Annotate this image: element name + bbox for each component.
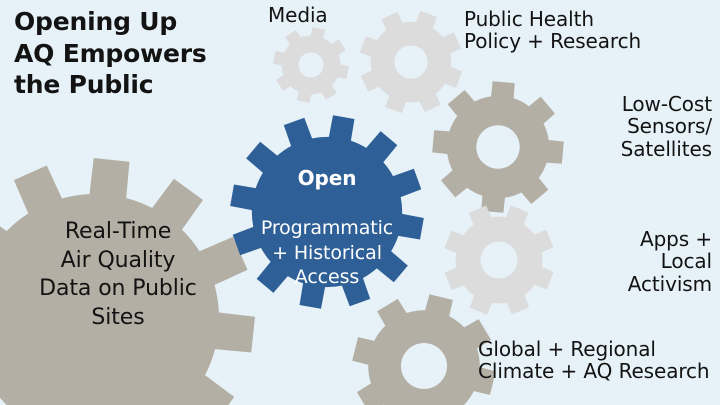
- page-title: Opening Up AQ Empowers the Public: [14, 6, 207, 101]
- gear-public-health: [360, 11, 462, 113]
- center-headline: Open: [238, 166, 416, 192]
- gear-apps-local-activism-hole: [481, 242, 518, 279]
- label-media: Media: [268, 4, 328, 26]
- gear-global-regional: [352, 294, 496, 405]
- label-public-health-policy-research: Public Health Policy + Research: [464, 8, 641, 53]
- gear-low-cost-sensors: [432, 81, 564, 213]
- gear-low-cost-sensors-hole: [476, 125, 520, 169]
- infographic-canvas: Opening Up AQ Empowers the Public Media …: [0, 0, 720, 405]
- label-open-access: Open Programmatic + Historical Access: [238, 142, 416, 289]
- gear-global-regional-hole: [401, 343, 447, 389]
- gear-media-hole: [298, 52, 323, 77]
- label-real-time-air-quality-data: Real-Time Air Quality Data on Public Sit…: [6, 218, 230, 332]
- label-global-regional-climate-aq-research: Global + Regional Climate + AQ Research: [478, 338, 710, 383]
- label-low-cost-sensors-satellites: Low-Cost Sensors/ Satellites: [621, 93, 712, 160]
- gear-media: [273, 27, 349, 103]
- gear-apps-local-activism: [444, 205, 553, 314]
- center-body: Programmatic + Historical Access: [261, 217, 393, 288]
- gear-public-health-hole: [394, 45, 427, 78]
- label-apps-local-activism: Apps + Local Activism: [628, 228, 712, 295]
